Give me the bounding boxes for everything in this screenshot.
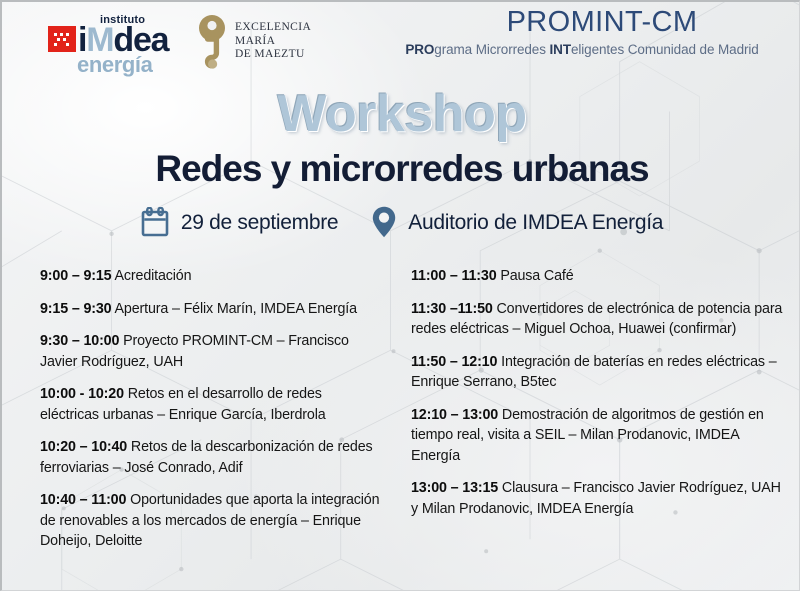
subtitle-int: INT: [550, 42, 571, 57]
schedule-entry-time: 10:20 – 10:40: [40, 439, 127, 455]
schedule-entry-time: 11:50 – 12:10: [411, 354, 497, 370]
schedule-entry-time: 10:40 – 11:00: [40, 492, 126, 508]
schedule-entry: 11:50 – 12:10 Integración de baterías en…: [411, 352, 788, 393]
schedule-entry: 13:00 – 13:15 Clausura – Francisco Javie…: [411, 478, 788, 519]
calendar-icon: [141, 207, 169, 237]
event-date-item: 29 de septiembre: [141, 207, 338, 237]
schedule-grid: 9:00 – 9:15 Acreditación9:15 – 9:30 Aper…: [2, 260, 800, 591]
project-title: PROMINT-CM: [402, 6, 800, 39]
project-subtitle: PROgrama Microrredes INTeligentes Comuni…: [362, 42, 800, 58]
schedule-entry: 11:00 – 11:30 Pausa Café: [411, 266, 788, 287]
schedule-entry: 9:30 – 10:00 Proyecto PROMINT-CM – Franc…: [40, 331, 382, 372]
subtitle-grama: grama Microrredes: [434, 42, 549, 57]
schedule-column-right: 11:00 – 11:30 Pausa Café11:30 –11:50 Con…: [402, 260, 800, 591]
schedule-entry-time: 9:30 – 10:00: [40, 333, 119, 349]
schedule-entry-time: 10:00 - 10:20: [40, 386, 124, 402]
imdea-energia-logo: instituto iMdea energía: [48, 10, 198, 76]
event-subject-heading: Redes y microrredes urbanas: [2, 150, 800, 187]
event-meta-row: 29 de septiembre Auditorio de IMDEA Ener…: [2, 198, 800, 246]
imdea-energia-label: energía: [77, 54, 152, 76]
schedule-entry-time: 11:30 –11:50: [411, 301, 493, 317]
schedule-entry-description: Pausa Café: [497, 268, 574, 284]
event-date-text: 29 de septiembre: [181, 212, 338, 233]
event-location-item: Auditorio de IMDEA Energía: [372, 206, 663, 238]
event-location-text: Auditorio de IMDEA Energía: [408, 212, 663, 233]
schedule-entry-time: 9:00 – 9:15: [40, 268, 111, 284]
poster-header: instituto iMdea energía EXCELENCIA MARÍA…: [2, 2, 800, 82]
schedule-entry-time: 11:00 – 11:30: [411, 268, 497, 284]
schedule-entry-time: 9:15 – 9:30: [40, 301, 111, 317]
maeztu-line-3: DE MAEZTU: [235, 48, 311, 62]
schedule-entry: 10:00 - 10:20 Retos en el desarrollo de …: [40, 384, 382, 425]
madrid-flag-icon: [48, 26, 76, 52]
schedule-entry: 12:10 – 13:00 Demostración de algoritmos…: [411, 405, 788, 467]
schedule-column-left: 9:00 – 9:15 Acreditación9:15 – 9:30 Aper…: [2, 260, 402, 591]
schedule-entry-time: 13:00 – 13:15: [411, 480, 498, 496]
subtitle-rest: eligentes Comunidad de Madrid: [571, 42, 759, 57]
schedule-entry-description: Acreditación: [111, 268, 191, 284]
subtitle-pro: PRO: [405, 42, 434, 57]
schedule-entry: 9:00 – 9:15 Acreditación: [40, 266, 382, 287]
schedule-entry-description: Apertura – Félix Marín, IMDEA Energía: [111, 301, 356, 317]
maeztu-line-2: MARÍA: [235, 35, 311, 49]
poster-canvas: instituto iMdea energía EXCELENCIA MARÍA…: [0, 0, 800, 591]
schedule-entry: 10:40 – 11:00 Oportunidades que aporta l…: [40, 490, 382, 552]
schedule-entry: 11:30 –11:50 Convertidores de electrónic…: [411, 299, 788, 340]
workshop-heading: Workshop: [2, 88, 800, 140]
map-pin-icon: [372, 206, 396, 238]
maeztu-key-icon: [195, 14, 229, 70]
schedule-entry: 10:20 – 10:40 Retos de la descarbonizaci…: [40, 437, 382, 478]
maria-de-maeztu-logo: EXCELENCIA MARÍA DE MAEZTU: [195, 12, 325, 74]
schedule-entry: 9:15 – 9:30 Apertura – Félix Marín, IMDE…: [40, 299, 382, 320]
schedule-entry-time: 12:10 – 13:00: [411, 407, 498, 423]
maeztu-text-block: EXCELENCIA MARÍA DE MAEZTU: [235, 21, 311, 62]
maeztu-line-1: EXCELENCIA: [235, 21, 311, 35]
